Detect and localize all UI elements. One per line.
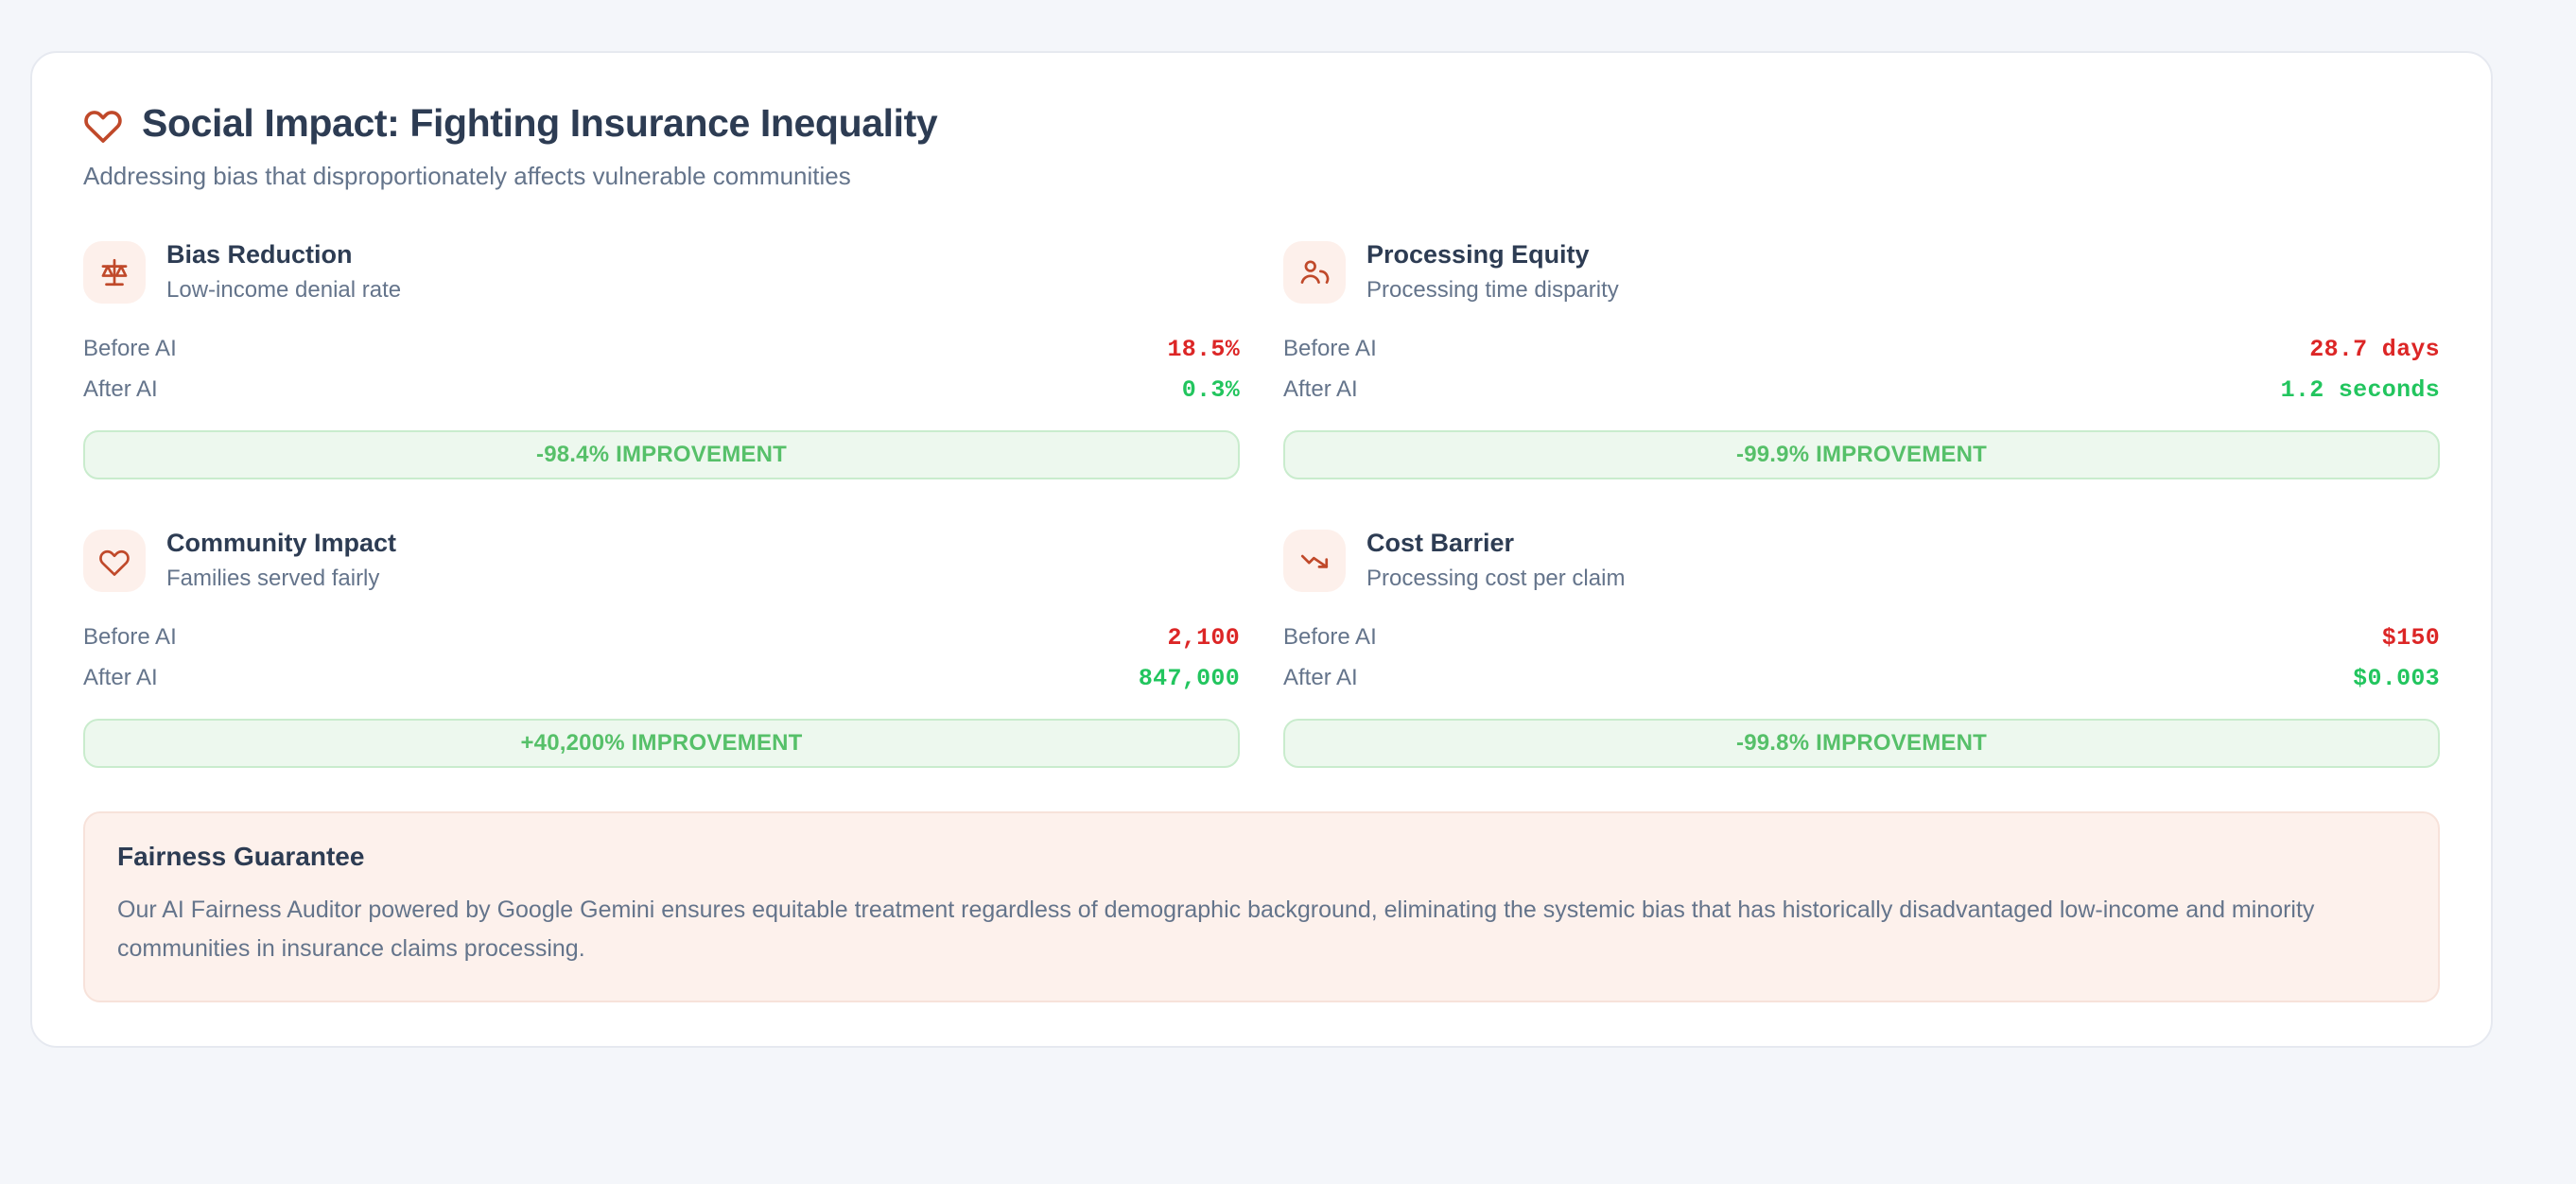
metric-card-community-impact: Community Impact Families served fairly … bbox=[83, 523, 1240, 768]
metrics-grid: Bias Reduction Low-income denial rate Be… bbox=[83, 235, 2440, 768]
scales-icon bbox=[83, 241, 146, 304]
users-icon bbox=[1283, 241, 1346, 304]
after-label: After AI bbox=[1283, 376, 1358, 403]
panel-header: Social Impact: Fighting Insurance Inequa… bbox=[83, 102, 2440, 193]
metric-titles: Community Impact Families served fairly bbox=[166, 529, 396, 593]
panel-subtitle: Addressing bias that disproportionately … bbox=[83, 161, 2440, 193]
metric-card-cost-barrier: Cost Barrier Processing cost per claim B… bbox=[1283, 523, 2440, 768]
metric-name: Processing Equity bbox=[1366, 240, 1619, 270]
metric-header: Processing Equity Processing time dispar… bbox=[1283, 240, 2440, 305]
before-label: Before AI bbox=[1283, 624, 1377, 651]
heart-icon bbox=[83, 104, 123, 144]
page-title: Social Impact: Fighting Insurance Inequa… bbox=[142, 102, 937, 145]
improvement-badge: -99.8% IMPROVEMENT bbox=[1283, 719, 2440, 768]
title-row: Social Impact: Fighting Insurance Inequa… bbox=[83, 102, 2440, 145]
before-value: 28.7 days bbox=[2309, 336, 2440, 363]
after-value: 0.3% bbox=[1182, 376, 1240, 404]
metric-name: Bias Reduction bbox=[166, 240, 401, 270]
metric-row-before: Before AI 28.7 days bbox=[1283, 329, 2440, 370]
metric-titles: Cost Barrier Processing cost per claim bbox=[1366, 529, 1625, 593]
metric-titles: Bias Reduction Low-income denial rate bbox=[166, 240, 401, 305]
metric-row-after: After AI 847,000 bbox=[83, 658, 1240, 699]
metric-header: Cost Barrier Processing cost per claim bbox=[1283, 529, 2440, 593]
heart-icon bbox=[83, 530, 146, 592]
metric-row-after: After AI 1.2 seconds bbox=[1283, 370, 2440, 410]
fairness-title: Fairness Guarantee bbox=[117, 842, 2406, 872]
trending-down-icon bbox=[1283, 530, 1346, 592]
metric-name: Community Impact bbox=[166, 529, 396, 558]
before-value: $150 bbox=[2382, 624, 2440, 652]
after-label: After AI bbox=[83, 665, 158, 691]
metric-description: Low-income denial rate bbox=[166, 277, 401, 305]
before-label: Before AI bbox=[1283, 336, 1377, 362]
metric-description: Processing cost per claim bbox=[1366, 566, 1625, 593]
metric-titles: Processing Equity Processing time dispar… bbox=[1366, 240, 1619, 305]
before-label: Before AI bbox=[83, 336, 177, 362]
after-label: After AI bbox=[83, 376, 158, 403]
metric-description: Families served fairly bbox=[166, 566, 396, 593]
social-impact-panel: Social Impact: Fighting Insurance Inequa… bbox=[30, 51, 2493, 1048]
metric-description: Processing time disparity bbox=[1366, 277, 1619, 305]
metric-row-before: Before AI 18.5% bbox=[83, 329, 1240, 370]
after-label: After AI bbox=[1283, 665, 1358, 691]
metric-row-before: Before AI 2,100 bbox=[83, 618, 1240, 658]
fairness-text: Our AI Fairness Auditor powered by Googl… bbox=[117, 891, 2406, 969]
metric-card-bias-reduction: Bias Reduction Low-income denial rate Be… bbox=[83, 235, 1240, 479]
metric-card-processing-equity: Processing Equity Processing time dispar… bbox=[1283, 235, 2440, 479]
after-value: $0.003 bbox=[2353, 665, 2440, 692]
before-value: 18.5% bbox=[1167, 336, 1240, 363]
metric-row-before: Before AI $150 bbox=[1283, 618, 2440, 658]
metric-header: Bias Reduction Low-income denial rate bbox=[83, 240, 1240, 305]
metric-name: Cost Barrier bbox=[1366, 529, 1625, 558]
page-root: Social Impact: Fighting Insurance Inequa… bbox=[0, 0, 2576, 1184]
after-value: 1.2 seconds bbox=[2281, 376, 2440, 404]
metric-row-after: After AI $0.003 bbox=[1283, 658, 2440, 699]
before-value: 2,100 bbox=[1167, 624, 1240, 652]
fairness-guarantee-box: Fairness Guarantee Our AI Fairness Audit… bbox=[83, 811, 2440, 1003]
metric-header: Community Impact Families served fairly bbox=[83, 529, 1240, 593]
improvement-badge: -99.9% IMPROVEMENT bbox=[1283, 430, 2440, 479]
improvement-badge: +40,200% IMPROVEMENT bbox=[83, 719, 1240, 768]
improvement-badge: -98.4% IMPROVEMENT bbox=[83, 430, 1240, 479]
after-value: 847,000 bbox=[1139, 665, 1240, 692]
before-label: Before AI bbox=[83, 624, 177, 651]
metric-row-after: After AI 0.3% bbox=[83, 370, 1240, 410]
